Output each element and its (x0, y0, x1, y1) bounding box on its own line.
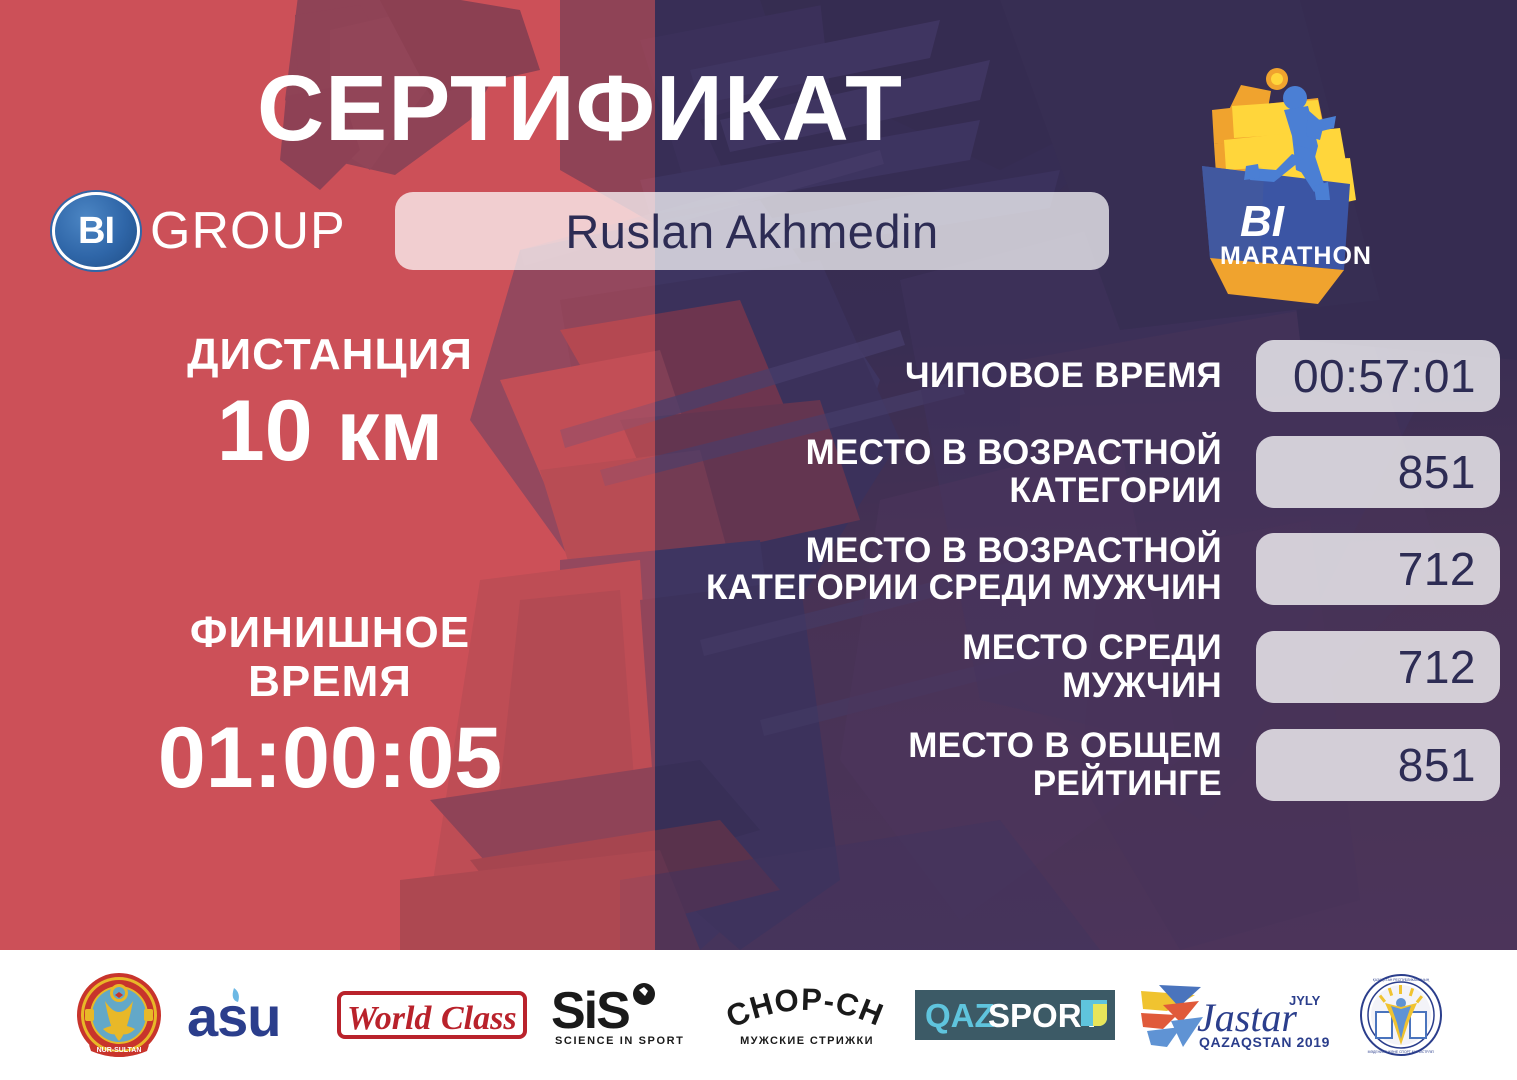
stat-men-place-label: МЕСТО СРЕДИ МУЖЧИН (500, 629, 1256, 705)
stat-overall-place-pill: 851 (1256, 729, 1500, 801)
stat-age-category-men-place-label: МЕСТО В ВОЗРАСТНОЙ КАТЕГОРИИ СРЕДИ МУЖЧИ… (500, 532, 1256, 608)
svg-text:QAZ: QAZ (925, 997, 995, 1034)
marathon-logo-line2: MARATHON (1220, 242, 1372, 270)
stat-overall-place-label: МЕСТО В ОБЩЕМ РЕЙТИНГЕ (500, 727, 1256, 803)
stat-chip-time-pill: 00:57:01 (1256, 340, 1500, 412)
svg-text:SCIENCE IN SPORT: SCIENCE IN SPORT (555, 1035, 685, 1047)
stat-age-category-men-place-pill: 712 (1256, 533, 1500, 605)
stat-men-place-pill: 712 (1256, 631, 1500, 703)
bi-group-logo: BI GROUP (52, 192, 346, 270)
sponsor-jastar-jyly-logo: Jastar JYLY QAZAQSTAN 2019 (1137, 969, 1337, 1061)
bi-badge-text: BI (78, 210, 114, 253)
stat-chip-time-value: 00:57:01 (1293, 349, 1476, 403)
svg-text:World: World (347, 1000, 432, 1037)
svg-text:ҚАЗАҚСТАН РЕСПУБЛИКАСЫНЫҢ: ҚАЗАҚСТАН РЕСПУБЛИКАСЫНЫҢ (1372, 978, 1429, 982)
stat-chip-time-label: ЧИПОВОЕ ВРЕМЯ (500, 357, 1256, 395)
stat-row-age-category-place: МЕСТО В ВОЗРАСТНОЙ КАТЕГОРИИ 851 (500, 434, 1500, 510)
bi-group-wordmark: GROUP (150, 201, 346, 261)
sponsor-chop-chop-logo: CHOP-CHOP МУЖСКИЕ СТРИЖКИ (721, 969, 893, 1061)
sponsor-asu-logo: asu (185, 969, 315, 1061)
stat-row-overall-place: МЕСТО В ОБЩЕМ РЕЙТИНГЕ 851 (500, 727, 1500, 803)
right-stats-column: ЧИПОВОЕ ВРЕМЯ 00:57:01 МЕСТО В ВОЗРАСТНО… (500, 340, 1500, 824)
participant-name: Ruslan Akhmedin (565, 204, 938, 259)
svg-text:SiS: SiS (551, 982, 629, 1040)
marathon-logo-line1: BI (1240, 197, 1285, 246)
stat-overall-place-value: 851 (1398, 738, 1476, 792)
stat-row-men-place: МЕСТО СРЕДИ МУЖЧИН 712 (500, 629, 1500, 705)
stat-age-category-men-place-value: 712 (1398, 542, 1476, 596)
svg-text:CHOP-CHOP: CHOP-CHOP (721, 982, 889, 1035)
sponsor-world-class-logo: World Class (337, 969, 527, 1061)
sponsor-ministry-sport-emblem: ҚАЗАҚСТАН РЕСПУБЛИКАСЫНЫҢ МӘДЕНИЕТ ЖӘНЕ … (1359, 969, 1443, 1061)
bi-marathon-logo: BI MARATHON (1168, 58, 1383, 306)
sponsor-bar: NUR-SULTAN asu World Class SiS SCI (0, 950, 1517, 1080)
svg-text:МУЖСКИЕ СТРИЖКИ: МУЖСКИЕ СТРИЖКИ (740, 1035, 874, 1047)
sponsor-qazsport-logo: QAZ SPORT (915, 969, 1115, 1061)
stat-men-place-value: 712 (1398, 640, 1476, 694)
participant-name-plate: Ruslan Akhmedin (395, 192, 1109, 270)
svg-text:QAZAQSTAN 2019: QAZAQSTAN 2019 (1199, 1034, 1330, 1050)
certificate-root: BI GROUP СЕРТИФИКАТ Ruslan Akhmedin (0, 0, 1517, 1080)
stat-age-category-place-pill: 851 (1256, 436, 1500, 508)
page-title: СЕРТИФИКАТ (0, 60, 1160, 158)
stat-age-category-place-label: МЕСТО В ВОЗРАСТНОЙ КАТЕГОРИИ (500, 434, 1256, 510)
stat-age-category-place-value: 851 (1398, 445, 1476, 499)
svg-text:NUR-SULTAN: NUR-SULTAN (96, 1047, 141, 1054)
sponsor-sis-logo: SiS SCIENCE IN SPORT (549, 969, 699, 1061)
stat-row-age-category-men-place: МЕСТО В ВОЗРАСТНОЙ КАТЕГОРИИ СРЕДИ МУЖЧИ… (500, 532, 1500, 608)
bi-badge-icon: BI (52, 192, 140, 270)
sponsor-nur-sultan-emblem: NUR-SULTAN (75, 969, 163, 1061)
stat-row-chip-time: ЧИПОВОЕ ВРЕМЯ 00:57:01 (500, 340, 1500, 412)
svg-text:Class: Class (441, 1000, 517, 1037)
svg-text:JYLY: JYLY (1289, 993, 1321, 1008)
svg-text:МӘДЕНИЕТ ЖӘНЕ СПОРТ МИНИСТРЛІГ: МӘДЕНИЕТ ЖӘНЕ СПОРТ МИНИСТРЛІГІ (1367, 1050, 1434, 1054)
